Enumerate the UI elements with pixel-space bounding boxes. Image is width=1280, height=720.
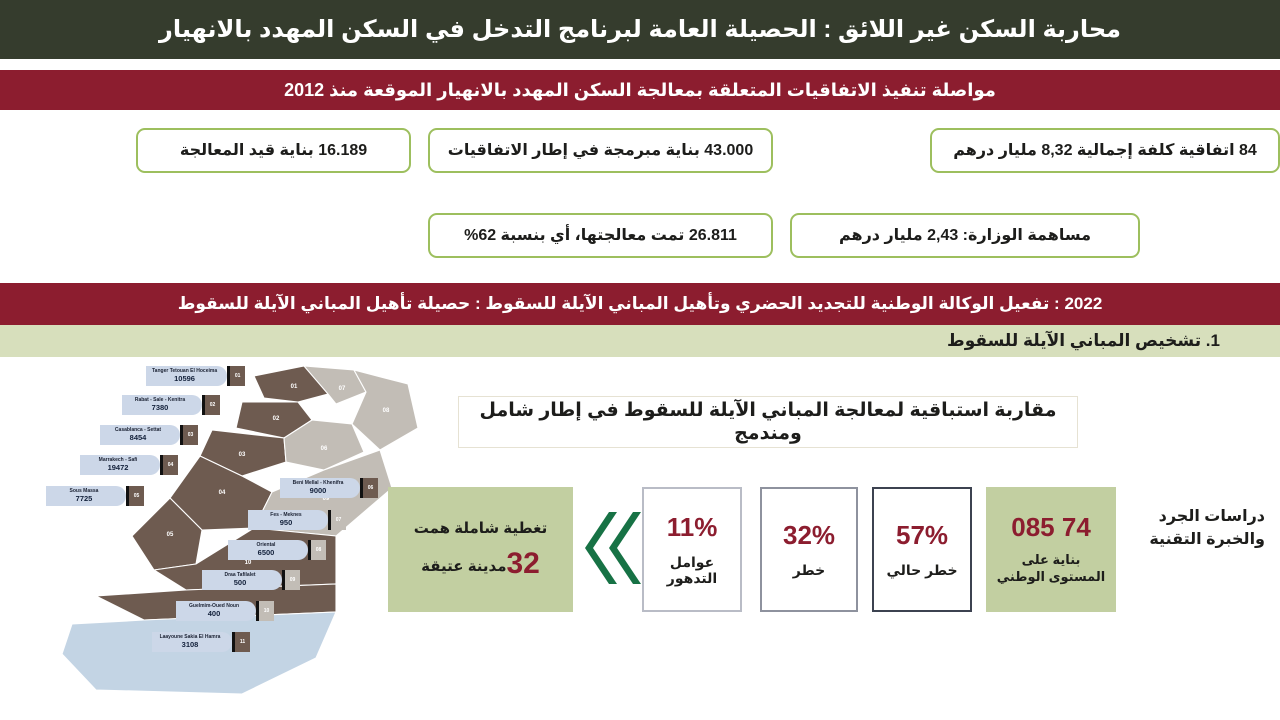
map-label-code: 09 bbox=[285, 570, 300, 590]
chevron-2 bbox=[609, 512, 641, 584]
map-label-value: 10596 bbox=[174, 375, 195, 383]
map-label-bar bbox=[256, 601, 259, 621]
map-label-benimellal: 06 Beni Mellal - Khenifra 9000 bbox=[280, 478, 378, 498]
map-label-value: 6500 bbox=[258, 549, 275, 557]
coverage-line1: تغطية شاملة همت bbox=[414, 519, 548, 537]
map-label-bar bbox=[328, 510, 331, 530]
map-label-code: 05 bbox=[129, 486, 144, 506]
coverage-unit: مدينة عتيقة bbox=[421, 558, 506, 575]
map-label-bar bbox=[282, 570, 285, 590]
map-label-bar bbox=[202, 395, 205, 415]
map-label-code: 10 bbox=[259, 601, 274, 621]
approach-statement-box: مقاربة استباقية لمعالجة المباني الآيلة ل… bbox=[458, 396, 1078, 448]
map-label-bar bbox=[180, 425, 183, 445]
slide-root: محاربة السكن غير اللائق : الحصيلة العامة… bbox=[0, 0, 1280, 720]
map-label-laayoune: 11 Laayoune Sakia El Hamra 3108 bbox=[152, 632, 250, 652]
diagnosis-section-band: 1. تشخيص المباني الآيلة للسقوط bbox=[0, 325, 1280, 357]
coverage-number: 32 bbox=[507, 547, 540, 580]
map-label-code: 06 bbox=[363, 478, 378, 498]
page-title: محاربة السكن غير اللائق : الحصيلة العامة… bbox=[159, 15, 1121, 45]
map-label-value: 950 bbox=[280, 519, 293, 527]
map-label-value: 19472 bbox=[108, 464, 129, 472]
map-label-sousmassa: 05 Sous Massa 7725 bbox=[46, 486, 144, 506]
risk-value: 32% bbox=[783, 521, 835, 550]
map-label-value: 7725 bbox=[76, 495, 93, 503]
stat-programmed-buildings: 43.000 بناية مبرمجة في إطار الاتفاقيات bbox=[428, 128, 773, 173]
map-label-draa: 09 Draa Tafilalet 500 bbox=[202, 570, 300, 590]
map-label-bar bbox=[126, 486, 129, 506]
map-label-value: 500 bbox=[234, 579, 247, 587]
slide-title-band: محاربة السكن غير اللائق : الحصيلة العامة… bbox=[0, 0, 1280, 59]
national-total-box: 74 085 بناية على المستوى الوطني bbox=[986, 487, 1116, 612]
coverage-line2: 32مدينة عتيقة bbox=[421, 547, 540, 581]
coverage-box: تغطية شاملة همت 32مدينة عتيقة bbox=[388, 487, 573, 612]
map-label-bar bbox=[360, 478, 363, 498]
map-label-value: 400 bbox=[208, 610, 221, 618]
map-label-code: 02 bbox=[205, 395, 220, 415]
map-label-rabat: 02 Rabat - Sale - Kenitra 7380 bbox=[122, 395, 220, 415]
stat-buildings-in-progress-text: 16.189 بناية قيد المعالجة bbox=[180, 141, 367, 160]
agency-header-text: 2022 : تفعيل الوكالة الوطنية للتجديد الح… bbox=[178, 293, 1103, 314]
map-label-tanger: 01 Tanger Tetouan El Hoceima 10596 bbox=[146, 366, 245, 386]
risk-label: عوامل التدهور bbox=[648, 554, 736, 586]
map-code-02: 02 bbox=[273, 416, 280, 422]
agreements-header-text: مواصلة تنفيذ الاتفاقيات المتعلقة بمعالجة… bbox=[284, 79, 996, 102]
risk-value: 11% bbox=[667, 513, 718, 542]
map-label-guelmim: 10 Guelmim-Oued Noun 400 bbox=[176, 601, 274, 621]
map-code-04: 04 bbox=[219, 490, 226, 496]
stat-ministry-contribution-text: مساهمة الوزارة: 2,43 مليار درهم bbox=[839, 226, 1091, 245]
map-label-marrakech: 04 Marrakech - Safi 19472 bbox=[80, 455, 178, 475]
map-label-value: 7380 bbox=[152, 404, 169, 412]
agreements-header-band: مواصلة تنفيذ الاتفاقيات المتعلقة بمعالجة… bbox=[0, 70, 1280, 110]
risk-box-current-risk: 57% خطر حالي bbox=[872, 487, 972, 612]
map-label-bar bbox=[232, 632, 235, 652]
map-label-code: 03 bbox=[183, 425, 198, 445]
national-total-label: بناية على المستوى الوطني bbox=[994, 552, 1108, 586]
stat-agreements-count-text: 84 اتفاقية كلفة إجمالية 8,32 مليار درهم bbox=[953, 141, 1257, 160]
stat-agreements-count: 84 اتفاقية كلفة إجمالية 8,32 مليار درهم bbox=[930, 128, 1280, 173]
diagnosis-section-text: 1. تشخيص المباني الآيلة للسقوط bbox=[947, 331, 1220, 351]
national-total-value: 74 085 bbox=[1011, 513, 1091, 542]
map-code-05: 05 bbox=[167, 532, 174, 538]
risk-box-degradation-factors: 11% عوامل التدهور bbox=[642, 487, 742, 612]
map-label-oriental: 08 Oriental 6500 bbox=[228, 540, 326, 560]
agency-header-band: 2022 : تفعيل الوكالة الوطنية للتجديد الح… bbox=[0, 283, 1280, 325]
map-label-bar bbox=[160, 455, 163, 475]
stat-buildings-treated: 26.811 تمت معالجتها، أي بنسبة 62% bbox=[428, 213, 773, 258]
map-label-code: 01 bbox=[230, 366, 245, 386]
double-chevron-left-icon bbox=[583, 508, 643, 588]
map-label-code: 11 bbox=[235, 632, 250, 652]
risk-label: خطر bbox=[793, 562, 825, 578]
map-label-bar bbox=[227, 366, 230, 386]
map-code-03: 03 bbox=[239, 452, 246, 458]
risk-value: 57% bbox=[896, 521, 948, 550]
map-label-code: 07 bbox=[331, 510, 346, 530]
stat-programmed-buildings-text: 43.000 بناية مبرمجة في إطار الاتفاقيات bbox=[448, 141, 753, 160]
map-label-bar bbox=[308, 540, 311, 560]
map-label-code: 08 bbox=[311, 540, 326, 560]
risk-label: خطر حالي bbox=[886, 562, 957, 578]
map-code-06: 06 bbox=[321, 446, 328, 452]
map-code-08: 08 bbox=[383, 408, 390, 414]
map-code-01: 01 bbox=[291, 384, 298, 390]
map-code-10: 10 bbox=[245, 560, 252, 566]
map-label-value: 9000 bbox=[310, 487, 327, 495]
map-label-casablanca: 03 Casablanca - Settat 8454 bbox=[100, 425, 198, 445]
approach-statement-text: مقاربة استباقية لمعالجة المباني الآيلة ل… bbox=[459, 399, 1077, 445]
map-label-fes: 07 Fes - Meknes 950 bbox=[248, 510, 346, 530]
map-region-dakhla bbox=[62, 612, 336, 694]
map-code-07: 07 bbox=[339, 386, 346, 392]
map-label-code: 04 bbox=[163, 455, 178, 475]
risk-box-risk: 32% خطر bbox=[760, 487, 858, 612]
stat-ministry-contribution: مساهمة الوزارة: 2,43 مليار درهم bbox=[790, 213, 1140, 258]
map-label-value: 3108 bbox=[182, 641, 199, 649]
stat-buildings-treated-text: 26.811 تمت معالجتها، أي بنسبة 62% bbox=[464, 226, 737, 245]
stat-buildings-in-progress: 16.189 بناية قيد المعالجة bbox=[136, 128, 411, 173]
studies-label: دراسات الجرد والخبرة التقنية bbox=[1130, 505, 1265, 551]
map-label-value: 8454 bbox=[130, 434, 147, 442]
